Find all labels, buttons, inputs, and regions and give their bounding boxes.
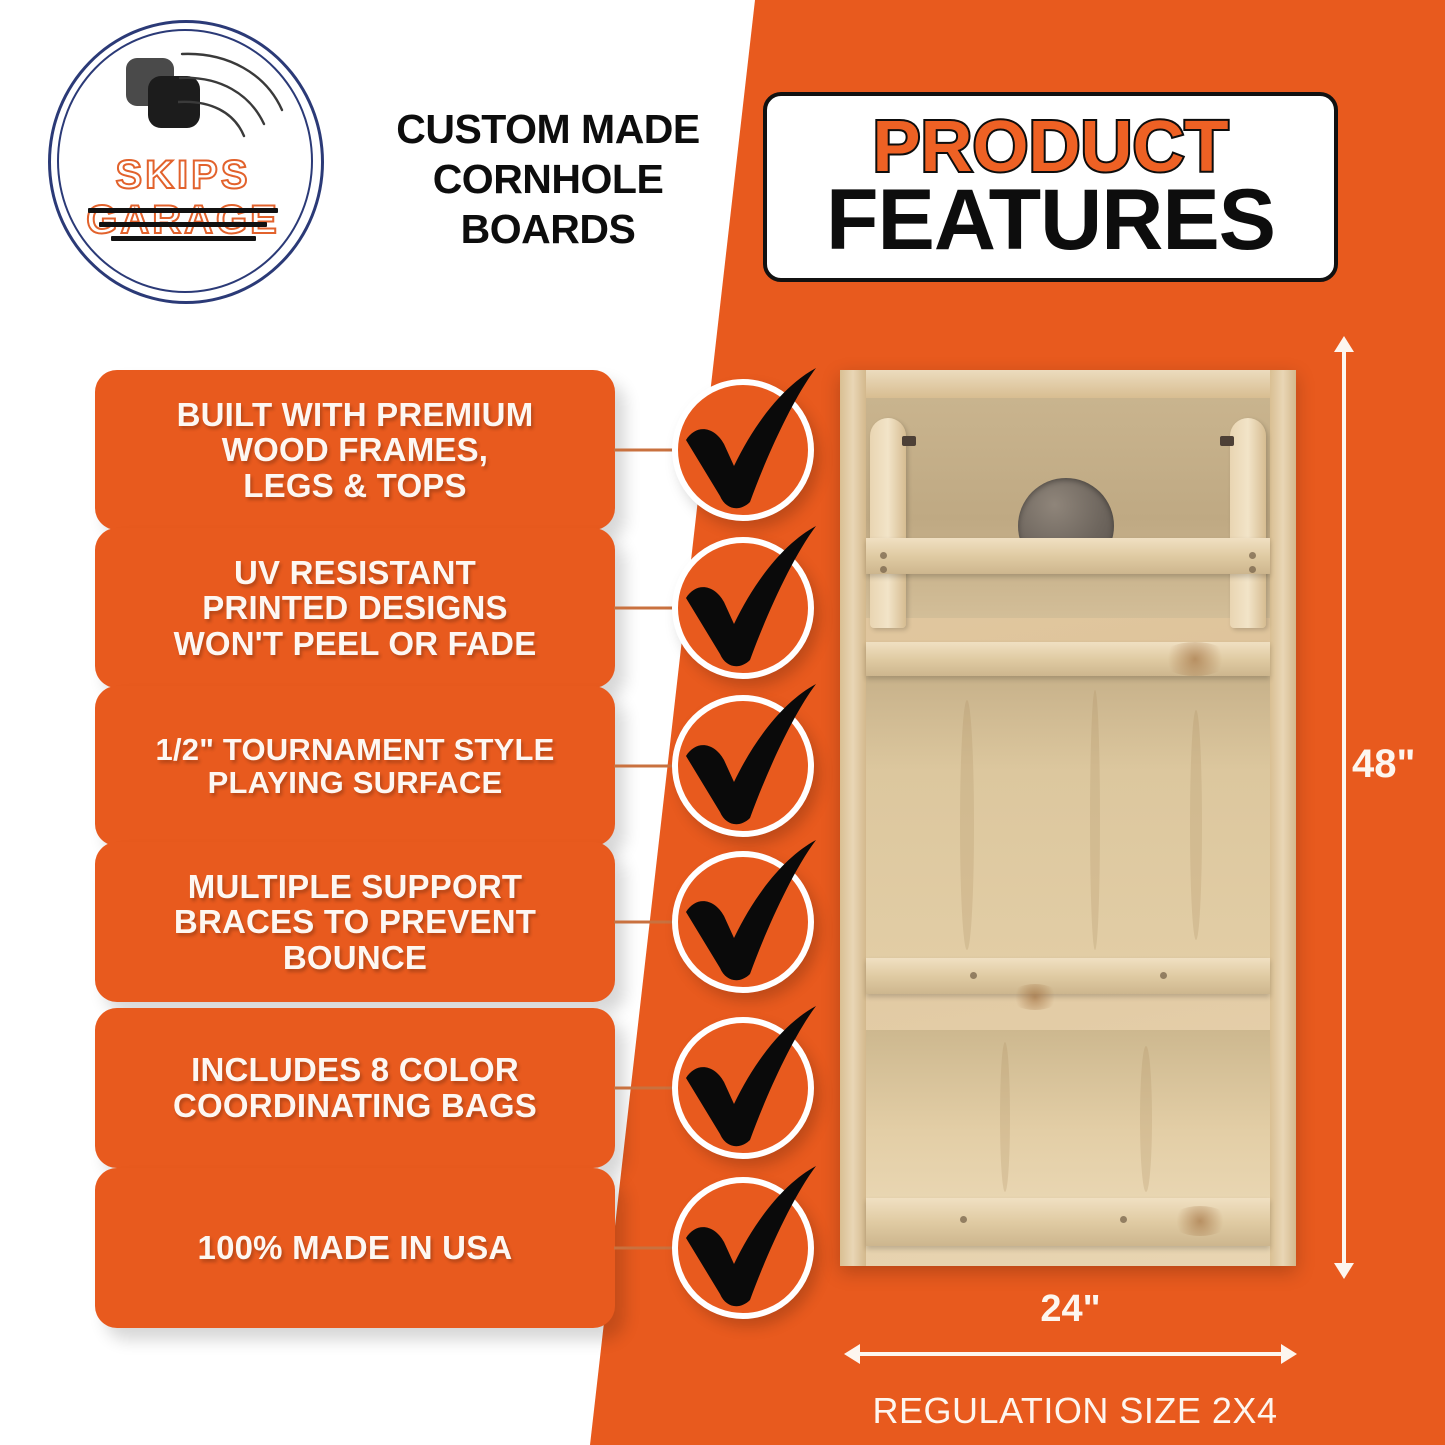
feature-pill-uv-resistant[interactable]: UV RESISTANT PRINTED DESIGNS WON'T PEEL … bbox=[95, 528, 615, 688]
logo-underline-1 bbox=[88, 208, 278, 213]
board-brace-top bbox=[866, 538, 1270, 574]
board-wood-grain bbox=[1000, 1042, 1010, 1192]
logo-underline-3 bbox=[111, 236, 256, 241]
board-cavity-middle bbox=[866, 670, 1270, 960]
product-features-title-box: PRODUCT FEATURES bbox=[763, 92, 1338, 282]
dimension-arrow-horizontal bbox=[858, 1352, 1283, 1356]
feature-pill-made-in-usa[interactable]: 100% MADE IN USA bbox=[95, 1168, 615, 1328]
feature-pill-text: MULTIPLE SUPPORT BRACES TO PREVENT BOUNC… bbox=[174, 869, 536, 976]
board-screw bbox=[1160, 972, 1167, 979]
feature-pill-premium-wood[interactable]: BUILT WITH PREMIUM WOOD FRAMES, LEGS & T… bbox=[95, 370, 615, 530]
board-wood-grain bbox=[1190, 710, 1202, 940]
board-bolt-right bbox=[1220, 436, 1234, 446]
feature-row-uv-resistant: UV RESISTANT PRINTED DESIGNS WON'T PEEL … bbox=[0, 528, 840, 688]
board-wood-grain bbox=[1140, 1046, 1152, 1192]
page-headline: CUSTOM MADE CORNHOLE BOARDS bbox=[352, 104, 744, 254]
board-wood-grain bbox=[960, 700, 974, 950]
feature-pill-text: 100% MADE IN USA bbox=[198, 1230, 513, 1266]
board-frame-left bbox=[840, 370, 866, 1266]
board-screw bbox=[960, 1216, 967, 1223]
feature-check-circle bbox=[672, 1017, 814, 1159]
board-bolt-left bbox=[902, 436, 916, 446]
board-wood-knot bbox=[1010, 984, 1060, 1010]
feature-row-made-in-usa: 100% MADE IN USA bbox=[0, 1168, 840, 1328]
feature-row-support-braces: MULTIPLE SUPPORT BRACES TO PREVENT BOUNC… bbox=[0, 842, 840, 1002]
feature-pill-text: UV RESISTANT PRINTED DESIGNS WON'T PEEL … bbox=[174, 555, 537, 662]
feature-check-circle bbox=[672, 1177, 814, 1319]
regulation-size-text: REGULATION SIZE 2X4 bbox=[840, 1390, 1310, 1432]
board-screw bbox=[880, 566, 887, 573]
board-wood-knot bbox=[1170, 1206, 1230, 1236]
headline-line-1: CUSTOM MADE bbox=[352, 104, 744, 154]
dimension-label-height: 48" bbox=[1352, 742, 1415, 787]
infographic-canvas: SKIPS GARAGE CUSTOM MADE CORNHOLE BOARDS… bbox=[0, 0, 1445, 1445]
feature-row-premium-wood: BUILT WITH PREMIUM WOOD FRAMES, LEGS & T… bbox=[0, 370, 840, 530]
board-screw bbox=[1249, 552, 1256, 559]
feature-pill-playing-surface[interactable]: 1/2" TOURNAMENT STYLE PLAYING SURFACE bbox=[95, 686, 615, 846]
board-screw bbox=[880, 552, 887, 559]
board-frame-right bbox=[1270, 370, 1296, 1266]
board-leg-left bbox=[870, 418, 906, 628]
feature-row-included-bags: INCLUDES 8 COLOR COORDINATING BAGS bbox=[0, 1008, 840, 1168]
feature-pill-text: 1/2" TOURNAMENT STYLE PLAYING SURFACE bbox=[156, 733, 555, 800]
feature-check-circle bbox=[672, 851, 814, 993]
board-screw bbox=[1120, 1216, 1127, 1223]
logo-motion-arcs-icon bbox=[178, 48, 298, 138]
board-brace-lower bbox=[866, 958, 1270, 994]
board-leg-right bbox=[1230, 418, 1266, 628]
dimension-label-width: 24" bbox=[858, 1288, 1283, 1331]
board-screw bbox=[970, 972, 977, 979]
headline-line-2: CORNHOLE bbox=[352, 154, 744, 204]
board-cavity-bottom bbox=[866, 1030, 1270, 1200]
logo-underline-2 bbox=[99, 222, 267, 227]
feature-check-circle bbox=[672, 379, 814, 521]
features-title-features: FEATURES bbox=[826, 180, 1275, 262]
logo-underlines bbox=[18, 208, 348, 250]
board-screw bbox=[1249, 566, 1256, 573]
cornhole-board-photo bbox=[840, 370, 1296, 1266]
feature-check-circle bbox=[672, 537, 814, 679]
dimension-arrow-vertical bbox=[1342, 350, 1346, 1265]
feature-row-playing-surface: 1/2" TOURNAMENT STYLE PLAYING SURFACE bbox=[0, 686, 840, 846]
headline-line-3: BOARDS bbox=[352, 204, 744, 254]
board-wood-knot bbox=[1160, 642, 1230, 676]
board-wood-grain bbox=[1090, 690, 1100, 950]
board-frame-top bbox=[840, 370, 1296, 398]
feature-pill-text: INCLUDES 8 COLOR COORDINATING BAGS bbox=[173, 1052, 537, 1123]
feature-pill-support-braces[interactable]: MULTIPLE SUPPORT BRACES TO PREVENT BOUNC… bbox=[95, 842, 615, 1002]
brand-logo: SKIPS GARAGE bbox=[18, 8, 348, 308]
feature-pill-included-bags[interactable]: INCLUDES 8 COLOR COORDINATING BAGS bbox=[95, 1008, 615, 1168]
feature-check-circle bbox=[672, 695, 814, 837]
feature-pill-text: BUILT WITH PREMIUM WOOD FRAMES, LEGS & T… bbox=[177, 397, 534, 504]
